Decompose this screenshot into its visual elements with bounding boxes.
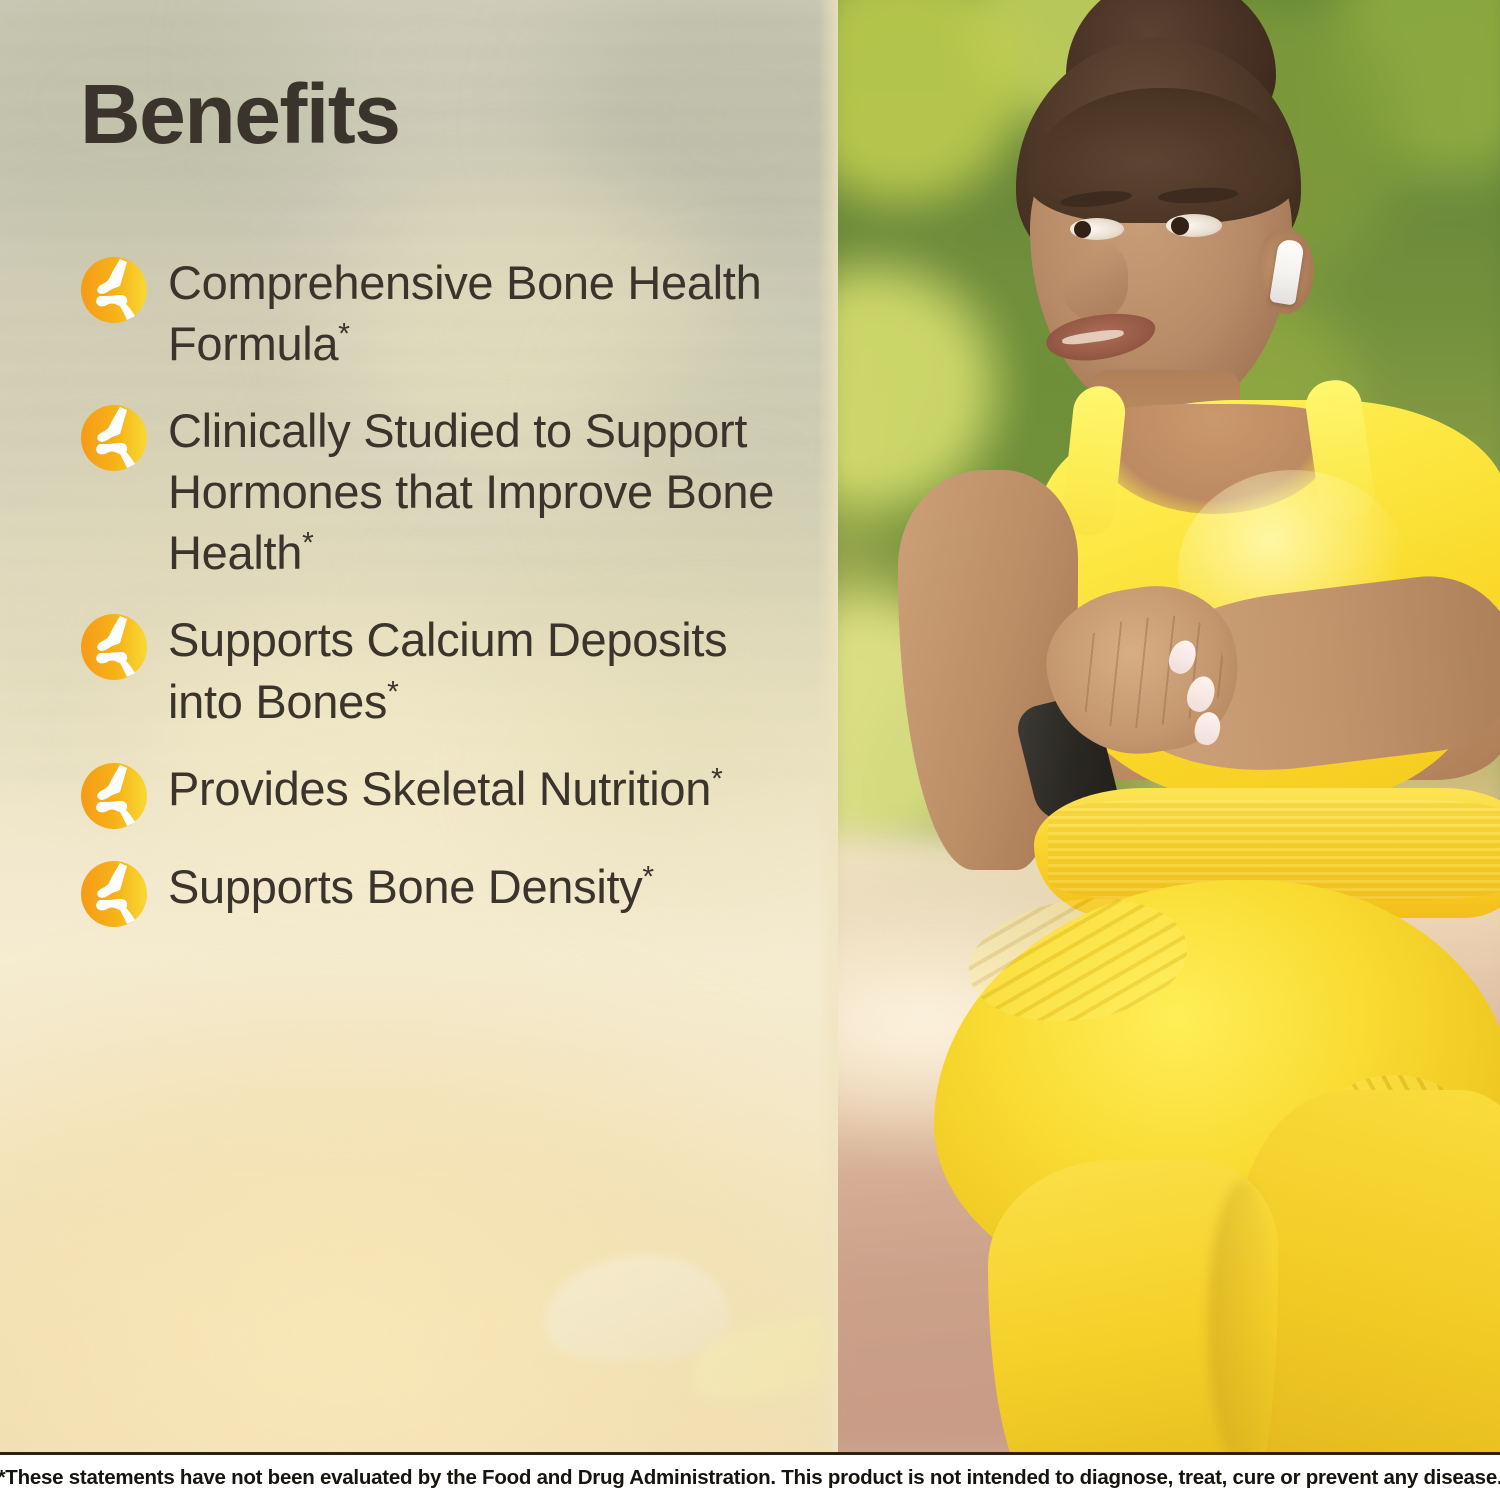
eye-left	[1070, 218, 1124, 240]
bone-joint-icon	[80, 762, 148, 830]
bone-joint-icon	[80, 256, 148, 324]
benefit-item: Supports Bone Density*	[80, 854, 800, 928]
footnote-marker: *	[338, 317, 349, 350]
benefit-text: Supports Calcium Deposits into Bones*	[168, 607, 800, 731]
bone-joint-icon	[80, 613, 148, 681]
benefits-infographic: Benefits	[0, 0, 1500, 1500]
footnote-marker: *	[642, 860, 653, 893]
benefit-text: Comprehensive Bone Health Formula*	[168, 250, 800, 374]
fda-disclaimer-bar: *These statements have not been evaluate…	[0, 1452, 1500, 1500]
eye-right	[1166, 214, 1222, 237]
benefit-item: Supports Calcium Deposits into Bones*	[80, 607, 800, 731]
nose	[1060, 243, 1128, 321]
bone-joint-icon	[80, 404, 148, 472]
page-title: Benefits	[80, 72, 399, 156]
bone-joint-icon	[80, 860, 148, 928]
benefits-content: Benefits	[0, 0, 840, 1455]
benefit-text: Supports Bone Density*	[168, 854, 654, 917]
benefits-list: Comprehensive Bone Health Formula*	[80, 250, 800, 952]
benefit-item: Provides Skeletal Nutrition*	[80, 756, 800, 830]
footnote-marker: *	[711, 762, 722, 795]
fda-disclaimer-text: *These statements have not been evaluate…	[0, 1466, 1500, 1490]
lifestyle-photo	[838, 0, 1500, 1455]
footnote-marker: *	[302, 527, 313, 560]
benefit-item: Comprehensive Bone Health Formula*	[80, 250, 800, 374]
leg-shadow	[1208, 1180, 1278, 1455]
footnote-marker: *	[387, 675, 398, 708]
benefit-item: Clinically Studied to Support Hormones t…	[80, 398, 800, 583]
photo-subject	[838, 0, 1500, 1455]
benefit-text: Provides Skeletal Nutrition*	[168, 756, 722, 819]
benefit-text: Clinically Studied to Support Hormones t…	[168, 398, 800, 583]
